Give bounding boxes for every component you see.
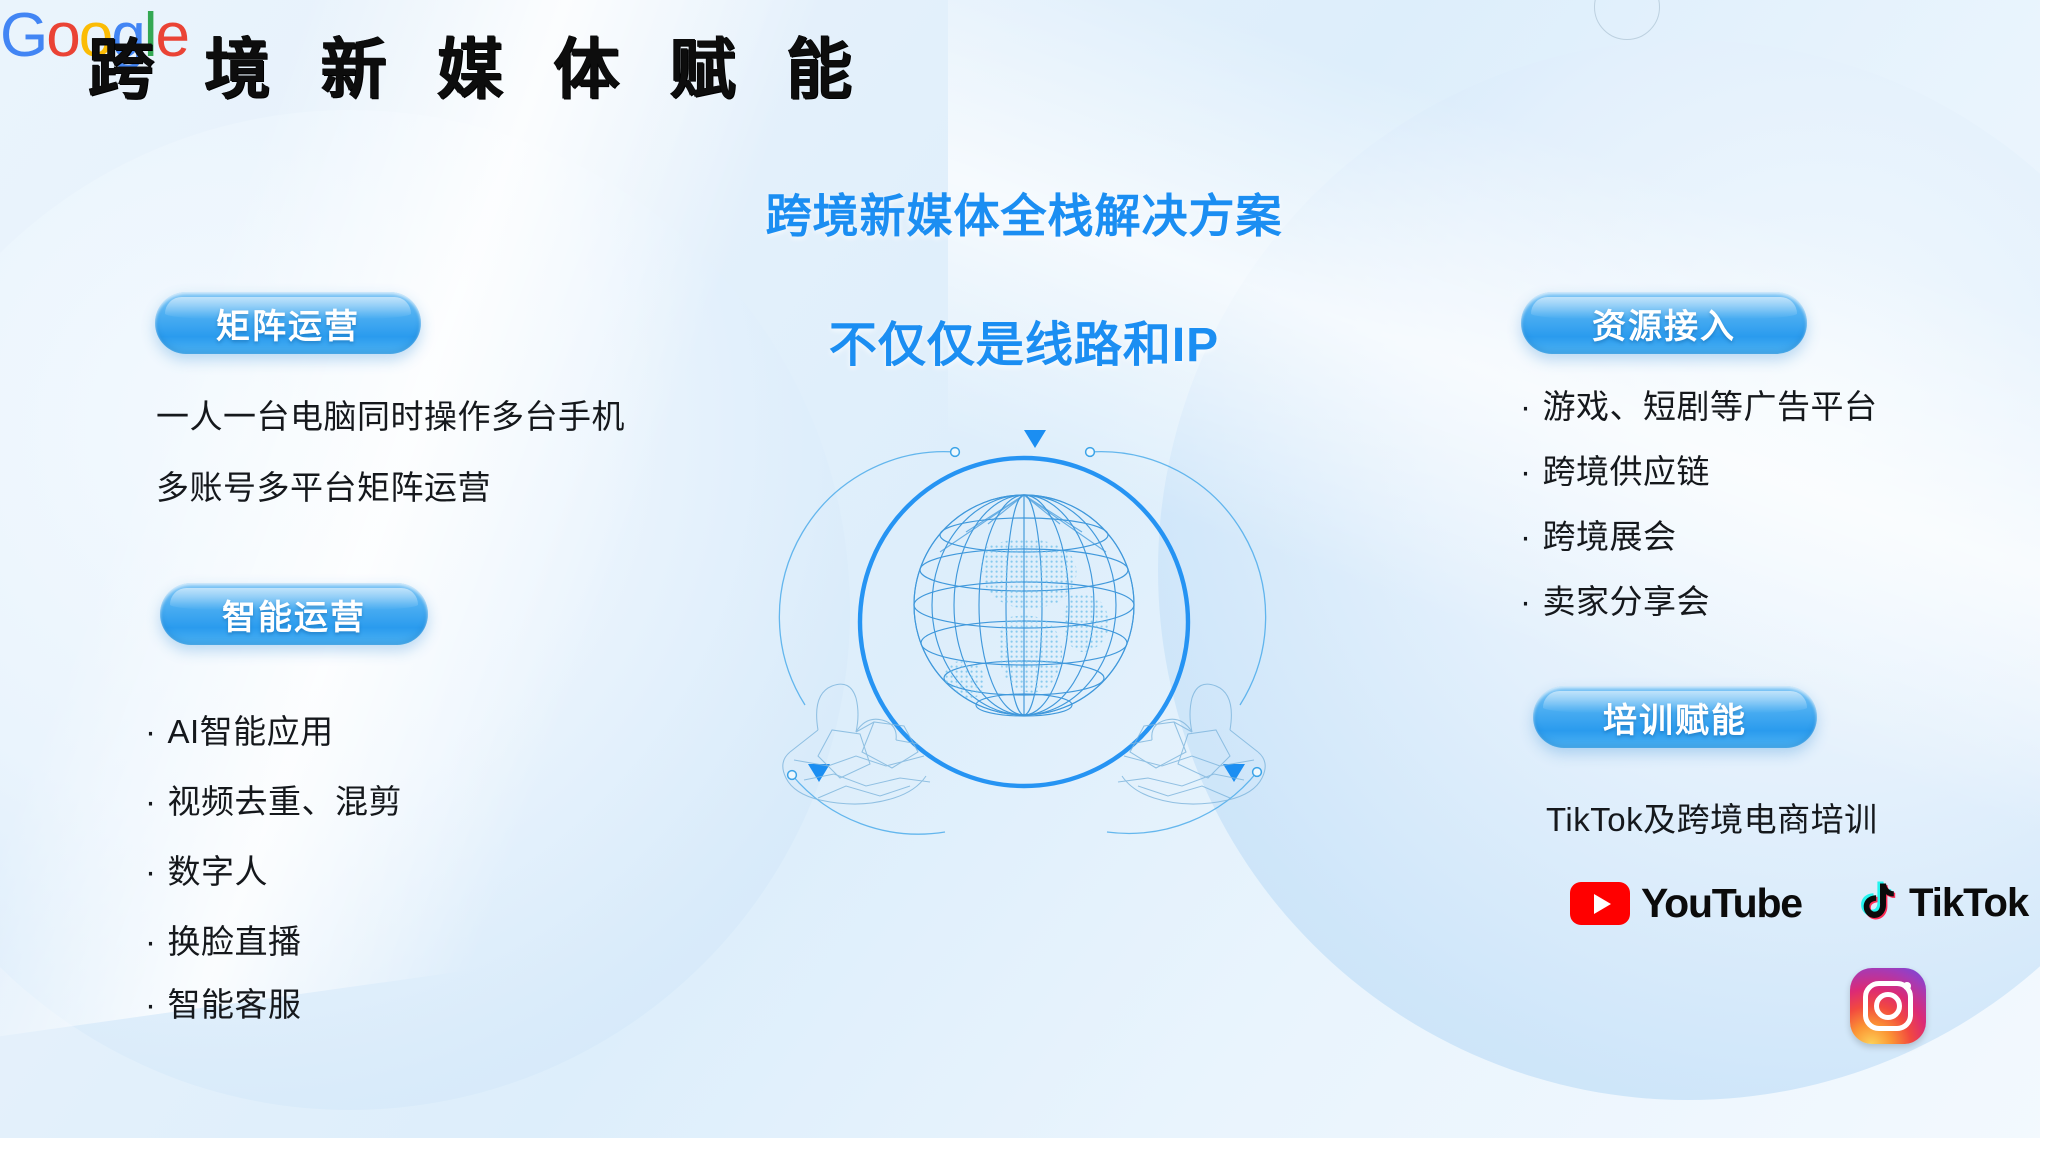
- tiktok-wordmark: TikTok: [1909, 881, 2028, 926]
- item-label: 游戏、短剧等广告平台: [1543, 388, 1878, 425]
- left-item-smart-1: ·AI智能应用: [145, 705, 334, 753]
- badge-resource-access[interactable]: 资源接入: [1521, 292, 1807, 354]
- youtube-wordmark: YouTube: [1641, 880, 1802, 927]
- left-item-matrix-2: 多账号多平台矩阵运营: [156, 461, 491, 509]
- item-label: 换脸直播: [168, 923, 302, 960]
- page-frame-right: [2040, 0, 2048, 1152]
- bullet-icon: ·: [1520, 518, 1532, 555]
- bullet-icon: ·: [1520, 583, 1532, 620]
- bullet-icon: ·: [145, 853, 157, 890]
- left-item-smart-2: ·视频去重、混剪: [145, 775, 402, 823]
- left-item-matrix-1: 一人一台电脑同时操作多台手机: [156, 390, 625, 438]
- left-item-smart-4: ·换脸直播: [145, 915, 302, 963]
- item-label: 跨境供应链: [1543, 453, 1711, 490]
- item-label: 卖家分享会: [1543, 583, 1711, 620]
- badge-label: 智能运营: [222, 590, 366, 639]
- right-item-resource-2: ·跨境供应链: [1520, 445, 1710, 493]
- bullet-icon: ·: [145, 923, 157, 960]
- youtube-logo[interactable]: YouTube: [1570, 880, 1802, 927]
- right-item-resource-3: ·跨境展会: [1520, 510, 1677, 558]
- right-item-resource-1: ·游戏、短剧等广告平台: [1520, 380, 1878, 428]
- tiktok-logo[interactable]: TikTok: [1856, 880, 2028, 926]
- item-label: AI智能应用: [168, 713, 334, 750]
- badge-label: 资源接入: [1592, 299, 1736, 348]
- page-title: 跨 境 新 媒 体 赋 能: [88, 36, 868, 102]
- item-label: 智能客服: [168, 986, 302, 1023]
- item-label: 数字人: [168, 853, 269, 890]
- left-item-smart-3: ·数字人: [145, 845, 268, 893]
- badge-label: 矩阵运营: [216, 299, 360, 348]
- bullet-icon: ·: [145, 783, 157, 820]
- right-item-resource-4: ·卖家分享会: [1520, 575, 1710, 623]
- bullet-icon: ·: [145, 713, 157, 750]
- badge-smart-operations[interactable]: 智能运营: [160, 583, 428, 645]
- badge-matrix-operations[interactable]: 矩阵运营: [155, 292, 421, 354]
- center-heading-primary: 跨境新媒体全栈解决方案: [0, 180, 2048, 246]
- left-item-smart-5: ·智能客服: [145, 978, 302, 1026]
- google-letter-o1: o: [46, 1, 78, 70]
- badge-training-empowerment[interactable]: 培训赋能: [1533, 686, 1817, 748]
- page-frame-bottom: [0, 1138, 2048, 1152]
- globe-in-hands-illustration: [770, 400, 1278, 840]
- badge-label: 培训赋能: [1603, 693, 1747, 742]
- slide-canvas: 跨 境 新 媒 体 赋 能 跨境新媒体全栈解决方案 不仅仅是线路和IP 矩阵运营…: [0, 0, 2048, 1152]
- bullet-icon: ·: [145, 986, 157, 1023]
- item-label: 跨境展会: [1543, 518, 1677, 555]
- bullet-icon: ·: [1520, 388, 1532, 425]
- item-label: 视频去重、混剪: [168, 783, 403, 820]
- google-letter-g1: G: [0, 1, 46, 70]
- tiktok-note-icon: [1856, 880, 1902, 926]
- instagram-logo[interactable]: [1850, 968, 1926, 1044]
- instagram-camera-icon: [1850, 968, 1926, 1044]
- youtube-play-icon: [1570, 882, 1630, 925]
- bullet-icon: ·: [1520, 453, 1532, 490]
- right-item-training-1: TikTok及跨境电商培训: [1546, 793, 1878, 841]
